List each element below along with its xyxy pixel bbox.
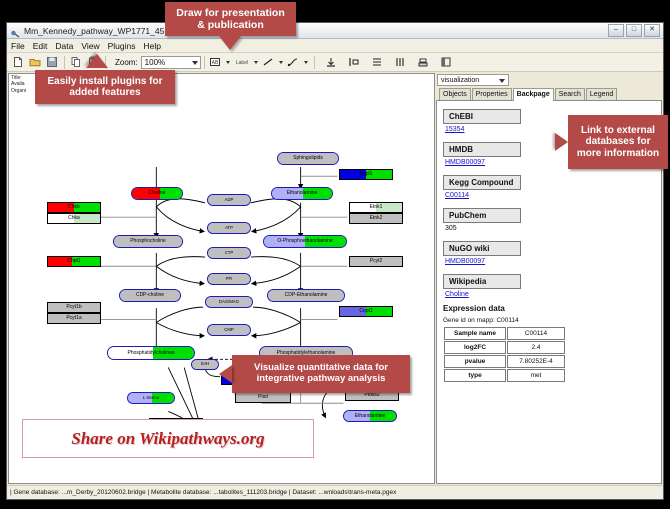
callout-links-line3: more information	[577, 148, 659, 159]
svg-text:Label: Label	[236, 60, 248, 66]
callout-plugins-line1: Easily install plugins for	[47, 76, 162, 87]
node-label: ATP	[225, 226, 233, 230]
database-header: HMDB	[443, 142, 521, 157]
expression-data-heading: Expression data	[443, 304, 661, 313]
gene-node[interactable]: Pcyt2	[349, 256, 403, 267]
node-label: Ethanolamine	[355, 414, 386, 419]
node-label: ADP	[225, 198, 234, 202]
node-label: Pcyt1b	[66, 305, 81, 310]
menu-plugins[interactable]: Plugins	[108, 41, 136, 51]
metabolite-node[interactable]: L-Serine	[127, 392, 175, 404]
chevron-down-icon	[499, 79, 505, 83]
tab-properties[interactable]: Properties	[472, 88, 512, 100]
database-value: 305	[445, 225, 661, 232]
side-panel-tabs: Objects Properties Backpage Search Legen…	[436, 87, 662, 101]
save-icon[interactable]	[44, 55, 59, 70]
database-link[interactable]: C00114	[445, 192, 661, 199]
expression-row: Sample nameC00114	[444, 327, 565, 340]
app-icon	[10, 26, 20, 36]
expression-key: log2FC	[444, 341, 506, 354]
visualization-row: visualization	[436, 73, 662, 87]
metabolite-node[interactable]: CDP-choline	[119, 289, 181, 302]
metabolite-node[interactable]: CTP	[207, 247, 251, 259]
tab-backpage[interactable]: Backpage	[513, 88, 554, 101]
menu-bar: File Edit Data View Plugins Help	[7, 39, 663, 53]
menu-edit[interactable]: Edit	[33, 41, 48, 51]
svg-text:AB: AB	[212, 60, 219, 66]
callout-plugins: Easily install plugins for added feature…	[35, 70, 175, 104]
metabolite-node[interactable]: SAH	[191, 359, 219, 370]
align-left-icon[interactable]	[347, 55, 362, 70]
node-label: Pcyt1a	[66, 316, 81, 321]
menu-view[interactable]: View	[81, 41, 99, 51]
node-label: Etnk2	[370, 216, 383, 221]
node-label: L-Serine	[143, 396, 159, 400]
toolbar-separator-4	[314, 56, 315, 69]
tab-objects[interactable]: Objects	[439, 88, 471, 100]
connector-dropdown-icon[interactable]	[304, 61, 308, 64]
metabolite-node[interactable]: PPi	[207, 273, 251, 285]
shape-dropdown-icon[interactable]	[226, 61, 230, 64]
node-label: CMP	[224, 328, 234, 332]
node-label: Pisd	[258, 395, 268, 400]
node-label: O-Phosphoethanolamine	[277, 239, 332, 244]
zoom-select[interactable]: 100%	[141, 56, 201, 69]
expression-value: 7.80252E-4	[507, 355, 565, 368]
node-label: Ptdss2	[364, 393, 379, 398]
callout-draw: Draw for presentation & publication	[165, 2, 296, 36]
database-header: PubChem	[443, 208, 521, 223]
node-label: Chpt1	[67, 259, 80, 264]
visualization-value: visualization	[441, 77, 479, 84]
callout-draw-line2: & publication	[197, 19, 264, 31]
menu-help[interactable]: Help	[144, 41, 161, 51]
toolbar-separator-3	[204, 56, 205, 69]
node-label: CTP	[225, 251, 234, 255]
node-label: Pcyt2	[370, 259, 383, 264]
metabolite-node[interactable]: Phosphocholine	[113, 235, 183, 248]
node-label: CDP-Ethanolamine	[285, 293, 328, 298]
node-label: Phosphocholine	[130, 239, 166, 244]
node-label: Cept1	[359, 309, 372, 314]
callout-links: Link to external databases for more info…	[568, 115, 668, 169]
screenshot-root: Mm_Kennedy_pathway_WP1771_45176.gpml – □…	[0, 0, 670, 509]
callout-visualize: Visualize quantitative data for integrat…	[232, 355, 410, 393]
share-banner-text: Share on Wikipathways.org	[71, 429, 264, 449]
metabolite-node[interactable]: ATP	[207, 222, 251, 234]
node-label: Choline	[149, 191, 166, 196]
node-label: DAG/MAG	[219, 300, 239, 304]
zoom-label: Zoom:	[115, 58, 138, 67]
maximize-button[interactable]: □	[626, 24, 642, 37]
gene-node[interactable]: Etnk2	[349, 213, 403, 224]
callout-links-line1: Link to external	[581, 125, 655, 136]
gene-id-line: Gene id on mapp: C00114	[443, 317, 661, 324]
line-icon[interactable]	[261, 55, 276, 70]
gene-node[interactable]: Chka	[47, 213, 101, 224]
metabolite-node[interactable]: Phosphatidylcholines	[107, 346, 195, 360]
callout-draw-arrow-icon	[219, 36, 241, 50]
node-label: Sgpl1	[360, 172, 373, 177]
expression-value: 2.4	[507, 341, 565, 354]
node-label: Ethanolamine	[287, 191, 318, 196]
metabolite-node[interactable]: CMP	[207, 324, 251, 336]
node-label: Chka	[68, 216, 80, 221]
expression-value: C00114	[507, 327, 565, 340]
status-bar: | Gene database: ...m_Derby_20120602.bri…	[7, 485, 663, 499]
tab-legend[interactable]: Legend	[586, 88, 617, 100]
toolbar-separator-1	[64, 56, 65, 69]
menu-file[interactable]: File	[11, 41, 25, 51]
status-text: | Gene database: ...m_Derby_20120602.bri…	[10, 489, 396, 496]
gene-node[interactable]: Pcyt1b	[47, 302, 101, 313]
close-button[interactable]: ✕	[644, 24, 660, 37]
database-header: NuGO wiki	[443, 241, 521, 256]
stack-icon[interactable]	[416, 55, 431, 70]
callout-plugins-line2: added features	[69, 87, 140, 98]
database-link[interactable]: Choline	[445, 291, 661, 298]
new-icon[interactable]	[10, 55, 25, 70]
callout-visualize-line2: integrative pathway analysis	[257, 373, 386, 384]
database-header: Wikipedia	[443, 274, 521, 289]
distribute-horizontal-icon[interactable]	[393, 55, 408, 70]
callout-visualize-arrow-icon	[219, 365, 232, 383]
shape-icon[interactable]: AB	[208, 55, 223, 70]
metabolite-node[interactable]: Choline	[131, 187, 183, 200]
menu-data[interactable]: Data	[55, 41, 73, 51]
tab-search[interactable]: Search	[555, 88, 585, 100]
expression-key: pvalue	[444, 355, 506, 368]
metabolite-node[interactable]: ADP	[207, 194, 251, 206]
node-label: SAH	[201, 362, 210, 366]
metabolite-node[interactable]: Ethanolamine	[271, 187, 333, 200]
gene-node[interactable]: Pcyt1a	[47, 313, 101, 324]
metabolite-node[interactable]: DAG/MAG	[205, 296, 253, 308]
metabolite-node[interactable]: CDP-Ethanolamine	[267, 289, 345, 302]
expression-row: pvalue7.80252E-4	[444, 355, 565, 368]
node-label: Sphingolipids	[293, 156, 323, 161]
align-top-icon[interactable]	[324, 55, 339, 70]
gene-node[interactable]: Chpt1	[47, 256, 101, 267]
callout-draw-line1: Draw for presentation	[176, 7, 285, 19]
share-banner: Share on Wikipathways.org	[22, 419, 314, 458]
expression-value: met	[507, 369, 565, 382]
gene-node[interactable]: Etnk1	[349, 202, 403, 213]
gene-node[interactable]: Cept1	[339, 306, 393, 317]
label-dropdown-icon[interactable]	[254, 61, 258, 64]
minimize-button[interactable]: –	[608, 24, 624, 37]
chevron-down-icon	[192, 61, 198, 65]
callout-visualize-line1: Visualize quantitative data for	[254, 362, 388, 373]
visualization-select[interactable]: visualization	[437, 74, 509, 86]
metabolite-node[interactable]: Ethanolamine	[343, 410, 397, 422]
callout-plugins-arrow-icon	[86, 54, 108, 68]
expression-key: type	[444, 369, 506, 382]
node-label: PPi	[226, 277, 233, 281]
node-label: CDP-choline	[136, 293, 164, 298]
zoom-value: 100%	[145, 58, 165, 67]
title-bar: Mm_Kennedy_pathway_WP1771_45176.gpml – □…	[7, 23, 663, 39]
order-icon[interactable]	[439, 55, 454, 70]
copy-icon[interactable]	[68, 55, 83, 70]
node-label: Chkb	[68, 205, 80, 210]
gene-node[interactable]: Chkb	[47, 202, 101, 213]
node-label: Etnk1	[370, 205, 383, 210]
expression-row: log2FC2.4	[444, 341, 565, 354]
expression-row: typemet	[444, 369, 565, 382]
gene-node[interactable]: Sgpl1	[339, 169, 393, 180]
metabolite-node[interactable]: O-Phosphoethanolamine	[263, 235, 347, 248]
distribute-vertical-icon[interactable]	[370, 55, 385, 70]
open-icon[interactable]	[27, 55, 42, 70]
callout-links-arrow-icon	[555, 133, 568, 151]
metabolite-node[interactable]: Sphingolipids	[277, 152, 339, 165]
callout-links-line2: databases for	[585, 136, 650, 147]
expression-key: Sample name	[444, 327, 506, 340]
expression-table: Sample nameC00114log2FC2.4pvalue7.80252E…	[443, 326, 566, 383]
database-link[interactable]: HMDB00097	[445, 258, 661, 265]
line-dropdown-icon[interactable]	[279, 61, 283, 64]
database-header: ChEBI	[443, 109, 521, 124]
connector-icon[interactable]	[286, 55, 301, 70]
window-buttons: – □ ✕	[608, 24, 660, 37]
node-label: Phosphatidylcholines	[128, 351, 175, 356]
database-header: Kegg Compound	[443, 175, 521, 190]
label-icon[interactable]: Label	[233, 55, 251, 70]
